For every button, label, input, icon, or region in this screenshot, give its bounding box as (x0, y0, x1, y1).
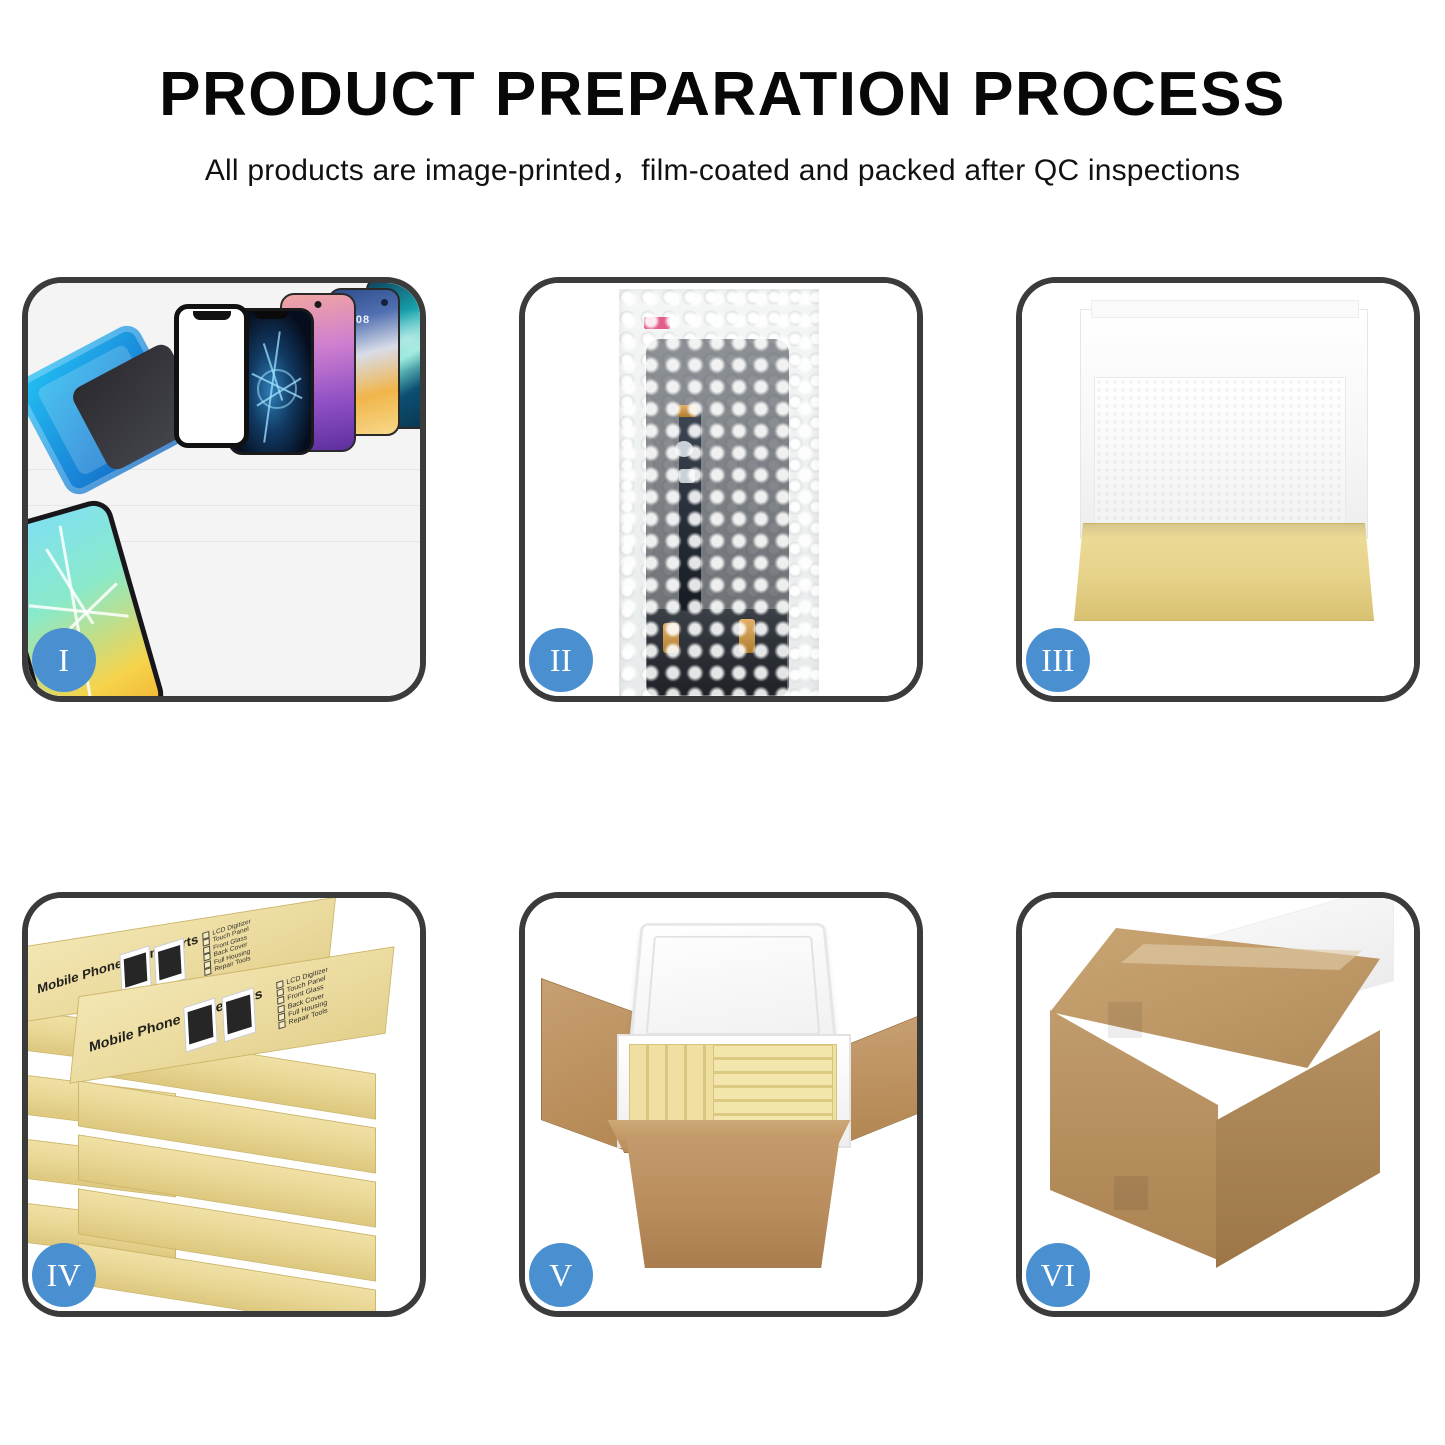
carton-styrofoam-scene (525, 898, 917, 1311)
step-badge-5: V (529, 1243, 593, 1307)
carton-seam-lower-icon (1114, 1176, 1148, 1210)
page-title: PRODUCT PREPARATION PROCESS (0, 0, 1445, 127)
box-screen-thumb-front-2 (222, 987, 257, 1042)
front-glass-icon (174, 304, 249, 448)
bubble-wrap-scene (525, 283, 917, 696)
open-mailer-box-scene (1022, 283, 1414, 696)
connector-round-icon (675, 441, 693, 457)
stacked-boxes-scene: Mobile Phone Spare Parts LCD Digitizer T… (28, 898, 420, 1311)
panel-step-3[interactable]: III (1016, 277, 1420, 702)
panel-step-5[interactable]: V (519, 892, 923, 1317)
panel-step-1[interactable]: 08:08 (22, 277, 426, 702)
step-badge-2: II (529, 628, 593, 692)
panel-step-2[interactable]: II (519, 277, 923, 702)
bubble-wrap-bag (619, 289, 819, 696)
connector-square-icon (679, 469, 695, 483)
pink-tape-icon (644, 317, 670, 329)
panel-step-4-image: Mobile Phone Spare Parts LCD Digitizer T… (28, 898, 420, 1311)
gold-contact-icon (677, 405, 697, 417)
page-header: PRODUCT PREPARATION PROCESS All products… (0, 0, 1445, 230)
step-badge-1: I (32, 628, 96, 692)
panel-step-5-image (525, 898, 917, 1311)
inner-yellow-boxes-right-icon (713, 1044, 833, 1128)
box-checklist-front: LCD Digitizer Touch Panel Front Glass Ba… (276, 966, 330, 1030)
process-panel-grid: 08:08 (22, 277, 1423, 1317)
step-badge-4: IV (32, 1243, 96, 1307)
step-badge-6: VI (1026, 1243, 1090, 1307)
foam-sheet-icon (1094, 377, 1346, 529)
gold-contact-2-icon (663, 623, 679, 653)
panel-step-6[interactable]: VI (1016, 892, 1420, 1317)
panel-step-3-image (1022, 283, 1414, 696)
panel-step-4[interactable]: Mobile Phone Spare Parts LCD Digitizer T… (22, 892, 426, 1317)
page-subtitle: All products are image-printed，film-coat… (0, 127, 1445, 189)
carton-seam-upper-icon (1108, 1002, 1142, 1038)
phone-parts-scene: 08:08 (28, 283, 420, 696)
gold-contact-3-icon (739, 619, 755, 653)
carton-body-icon (617, 1138, 849, 1268)
box-checklist-back: LCD Digitizer Touch Panel Front Glass Ba… (202, 918, 253, 977)
panel-step-2-image (525, 283, 917, 696)
sealed-carton-scene (1022, 898, 1414, 1311)
panel-step-6-image (1022, 898, 1414, 1311)
styrofoam-lid-icon (628, 923, 838, 1051)
box-screen-thumb-front-1 (183, 997, 218, 1052)
panel-step-1-image: 08:08 (28, 283, 420, 696)
carton-front-face-icon (1050, 1010, 1218, 1260)
box-base-icon (1074, 523, 1374, 621)
step-badge-3: III (1026, 628, 1090, 692)
